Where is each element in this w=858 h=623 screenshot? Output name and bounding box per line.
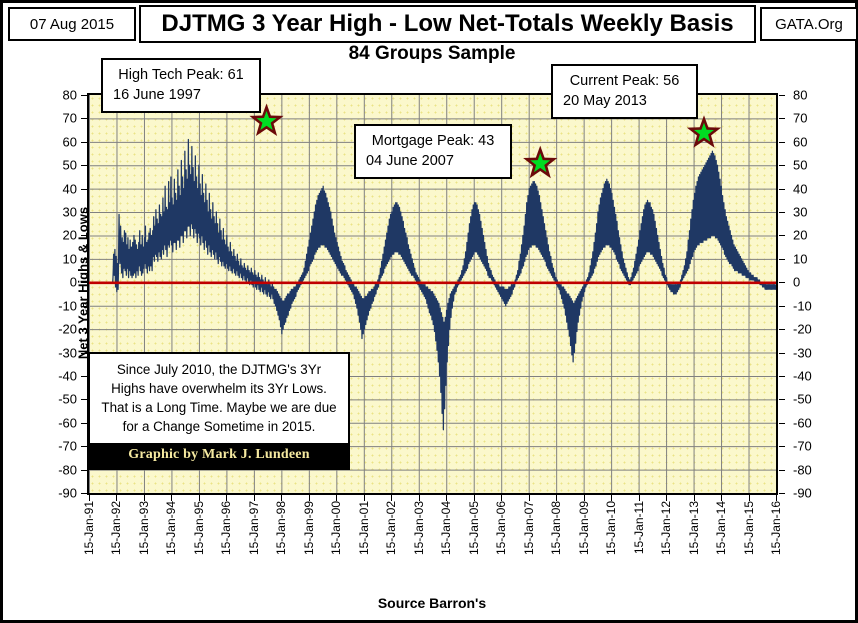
y-tick-mark	[779, 446, 785, 447]
page-title: DJTMG 3 Year High - Low Net-Totals Weekl…	[139, 5, 756, 43]
x-tick-mark	[116, 495, 117, 501]
x-tick-label: 15-Jan-92	[109, 501, 123, 555]
y-tick-mark	[779, 399, 785, 400]
y-tick-label-left: 20	[35, 228, 77, 243]
y-tick-mark	[81, 306, 87, 307]
y-tick-label-right: -70	[793, 439, 835, 454]
brand-badge: GATA.Org	[760, 7, 858, 41]
y-axis-title-wrap: Net 3 Year Highs & Lows	[17, 173, 35, 393]
x-tick-label: 15-Jan-97	[247, 501, 261, 555]
y-tick-label-right: -10	[793, 298, 835, 313]
x-tick-label: 15-Jan-08	[549, 501, 563, 555]
x-tick-label: 15-Jan-01	[357, 501, 371, 555]
x-tick-label: 15-Jan-06	[494, 501, 508, 555]
y-tick-mark	[779, 376, 785, 377]
x-tick-mark	[749, 495, 750, 501]
x-tick-mark	[556, 495, 557, 501]
y-tick-label-right: 10	[793, 251, 835, 266]
x-tick-mark	[694, 495, 695, 501]
y-tick-mark	[779, 470, 785, 471]
x-tick-label: 15-Jan-04	[439, 501, 453, 555]
y-tick-label-right: -60	[793, 415, 835, 430]
x-tick-label: 15-Jan-91	[82, 501, 96, 555]
callout-current-line1: Current Peak: 56	[563, 71, 686, 91]
x-axis-title: Source Barron's	[3, 595, 858, 611]
y-tick-label-left: -50	[35, 392, 77, 407]
x-tick-mark	[199, 495, 200, 501]
x-tick-label: 15-Jan-11	[632, 501, 646, 554]
y-tick-label-left: -90	[35, 486, 77, 501]
x-tick-label: 15-Jan-95	[192, 501, 206, 555]
y-tick-mark	[81, 446, 87, 447]
y-tick-label-right: -80	[793, 462, 835, 477]
x-tick-mark	[309, 495, 310, 501]
y-tick-label-left: 50	[35, 158, 77, 173]
x-tick-mark	[226, 495, 227, 501]
y-tick-label-right: 30	[793, 205, 835, 220]
y-tick-label-right: 20	[793, 228, 835, 243]
x-tick-label: 15-Jan-02	[384, 501, 398, 555]
y-tick-label-left: -40	[35, 368, 77, 383]
x-tick-mark	[171, 495, 172, 501]
chart-root: 07 Aug 2015 DJTMG 3 Year High - Low Net-…	[0, 0, 858, 623]
x-tick-label: 15-Jan-13	[687, 501, 701, 555]
callout-mortgage-line2: 04 June 2007	[366, 151, 500, 171]
x-tick-mark	[501, 495, 502, 501]
commentary-box: Since July 2010, the DJTMG's 3Yr Highs h…	[88, 352, 350, 470]
x-tick-label: 15-Jan-05	[467, 501, 481, 555]
y-tick-mark	[81, 142, 87, 143]
y-tick-mark	[81, 399, 87, 400]
y-tick-label-right: 0	[793, 275, 835, 290]
y-tick-label-left: 40	[35, 181, 77, 196]
callout-current-line2: 20 May 2013	[563, 91, 686, 111]
y-tick-mark	[779, 306, 785, 307]
x-tick-mark	[474, 495, 475, 501]
y-tick-label-right: -20	[793, 322, 835, 337]
y-tick-label-right: 50	[793, 158, 835, 173]
y-tick-mark	[81, 235, 87, 236]
x-tick-label: 15-Jan-93	[137, 501, 151, 555]
y-tick-label-left: -30	[35, 345, 77, 360]
y-tick-label-right: 40	[793, 181, 835, 196]
y-tick-label-left: 30	[35, 205, 77, 220]
y-tick-mark	[779, 493, 785, 494]
y-tick-mark	[81, 189, 87, 190]
x-tick-label: 15-Jan-98	[274, 501, 288, 555]
y-tick-mark	[779, 212, 785, 213]
x-tick-mark	[666, 495, 667, 501]
y-tick-mark	[779, 329, 785, 330]
y-tick-label-left: -70	[35, 439, 77, 454]
y-tick-label-right: -90	[793, 486, 835, 501]
x-tick-label: 15-Jan-15	[742, 501, 756, 555]
x-tick-mark	[419, 495, 420, 501]
y-tick-label-left: -10	[35, 298, 77, 313]
x-tick-mark	[611, 495, 612, 501]
y-tick-mark	[779, 189, 785, 190]
y-tick-label-left: 70	[35, 111, 77, 126]
x-tick-mark	[391, 495, 392, 501]
y-tick-mark	[81, 353, 87, 354]
y-tick-label-left: -80	[35, 462, 77, 477]
y-tick-mark	[81, 165, 87, 166]
x-tick-label: 15-Jan-16	[769, 501, 783, 555]
y-tick-label-left: 80	[35, 88, 77, 103]
x-tick-mark	[584, 495, 585, 501]
callout-mortgage-peak: Mortgage Peak: 43 04 June 2007	[354, 124, 512, 179]
y-tick-label-right: -50	[793, 392, 835, 407]
date-badge: 07 Aug 2015	[8, 7, 136, 41]
y-tick-mark	[81, 493, 87, 494]
callout-high-tech-line2: 16 June 1997	[113, 85, 249, 105]
y-tick-label-left: -20	[35, 322, 77, 337]
y-tick-mark	[779, 353, 785, 354]
x-tick-mark	[721, 495, 722, 501]
x-tick-label: 15-Jan-03	[412, 501, 426, 555]
y-tick-mark	[81, 282, 87, 283]
y-tick-mark	[779, 282, 785, 283]
x-tick-mark	[254, 495, 255, 501]
y-tick-label-left: 60	[35, 134, 77, 149]
x-tick-label: 15-Jan-10	[604, 501, 618, 555]
y-tick-mark	[81, 376, 87, 377]
y-tick-mark	[81, 470, 87, 471]
x-tick-label: 15-Jan-96	[219, 501, 233, 555]
y-tick-mark	[779, 423, 785, 424]
y-tick-label-left: -60	[35, 415, 77, 430]
y-tick-mark	[81, 118, 87, 119]
x-tick-label: 15-Jan-09	[577, 501, 591, 555]
y-tick-mark	[779, 235, 785, 236]
x-tick-mark	[776, 495, 777, 501]
callout-high-tech-peak: High Tech Peak: 61 16 June 1997	[101, 58, 261, 113]
y-tick-label-left: 10	[35, 251, 77, 266]
y-tick-label-right: -30	[793, 345, 835, 360]
x-tick-label: 15-Jan-14	[714, 501, 728, 555]
x-tick-mark	[364, 495, 365, 501]
y-tick-label-right: 80	[793, 88, 835, 103]
y-tick-label-right: -40	[793, 368, 835, 383]
x-tick-mark	[529, 495, 530, 501]
y-tick-mark	[81, 423, 87, 424]
y-tick-mark	[81, 259, 87, 260]
x-tick-mark	[89, 495, 90, 501]
callout-current-peak: Current Peak: 56 20 May 2013	[551, 64, 698, 119]
callout-high-tech-line1: High Tech Peak: 61	[113, 65, 249, 85]
y-tick-mark	[779, 95, 785, 96]
y-tick-label-right: 70	[793, 111, 835, 126]
y-tick-mark	[81, 329, 87, 330]
credit-banner: Graphic by Mark J. Lundeen	[90, 443, 348, 468]
y-tick-mark	[779, 118, 785, 119]
y-tick-mark	[779, 259, 785, 260]
y-tick-label-right: 60	[793, 134, 835, 149]
x-tick-mark	[639, 495, 640, 501]
y-tick-mark	[81, 95, 87, 96]
callout-mortgage-line1: Mortgage Peak: 43	[366, 131, 500, 151]
x-tick-mark	[144, 495, 145, 501]
x-tick-mark	[446, 495, 447, 501]
x-tick-label: 15-Jan-12	[659, 501, 673, 555]
x-tick-mark	[336, 495, 337, 501]
y-tick-label-left: 0	[35, 275, 77, 290]
x-tick-label: 15-Jan-94	[164, 501, 178, 555]
y-tick-mark	[81, 212, 87, 213]
x-tick-mark	[281, 495, 282, 501]
y-tick-mark	[779, 142, 785, 143]
y-tick-mark	[779, 165, 785, 166]
x-tick-label: 15-Jan-00	[329, 501, 343, 555]
x-tick-label: 15-Jan-07	[522, 501, 536, 555]
x-tick-label: 15-Jan-99	[302, 501, 316, 555]
commentary-text: Since July 2010, the DJTMG's 3Yr Highs h…	[90, 354, 348, 443]
